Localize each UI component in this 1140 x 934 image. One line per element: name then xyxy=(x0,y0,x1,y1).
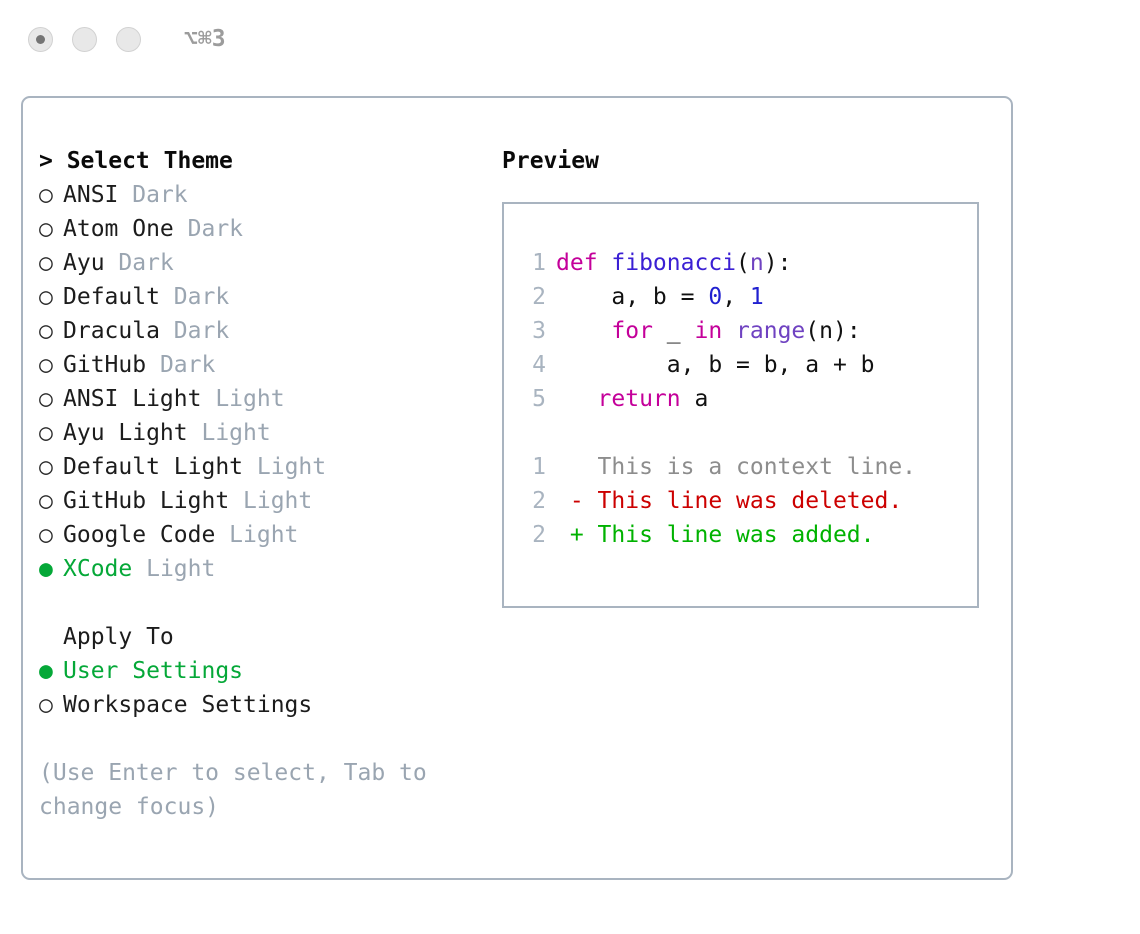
diff-line-add: 2 + This line was added. xyxy=(522,518,977,552)
preview-heading: Preview xyxy=(502,144,992,178)
code-token-plain: (n): xyxy=(805,318,860,344)
apply-to-option-label: User Settings xyxy=(63,658,243,684)
theme-option-ansi[interactable]: ○ANSI Dark xyxy=(39,178,469,212)
theme-option-ansi-light[interactable]: ○ANSI Light Light xyxy=(39,382,469,416)
theme-option-xcode[interactable]: ●XCode Light xyxy=(39,552,469,586)
theme-option-list: ○ANSI Dark○Atom One Dark○Ayu Dark○Defaul… xyxy=(39,178,469,586)
diff-line-del: 2 - This line was deleted. xyxy=(522,484,977,518)
code-sample: 1def fibonacci(n):2 a, b = 0, 13 for _ i… xyxy=(522,246,977,416)
code-line: 5 return a xyxy=(522,382,977,416)
window-titlebar: ⌥⌘3 xyxy=(0,0,1140,78)
code-token-kw: return xyxy=(598,386,681,412)
preview-column: Preview 1def fibonacci(n):2 a, b = 0, 13… xyxy=(502,144,992,608)
radio-unselected-icon: ○ xyxy=(39,450,63,484)
code-diff-spacer xyxy=(522,416,977,450)
code-token-num: 0 xyxy=(708,284,722,310)
theme-option-category: Light xyxy=(243,488,312,514)
radio-unselected-icon: ○ xyxy=(39,518,63,552)
keyboard-shortcut-label: ⌥⌘3 xyxy=(184,28,226,51)
select-theme-heading: > Select Theme xyxy=(39,144,469,178)
theme-option-google-code[interactable]: ○Google Code Light xyxy=(39,518,469,552)
code-line-content: return a xyxy=(556,386,708,412)
diff-line-number: 2 xyxy=(522,484,546,518)
code-token-fn: fibonacci xyxy=(611,250,736,276)
theme-option-github[interactable]: ○GitHub Dark xyxy=(39,348,469,382)
diff-line-number: 1 xyxy=(522,450,546,484)
apply-to-option-list: ●User Settings○Workspace Settings xyxy=(39,654,469,722)
code-line: 1def fibonacci(n): xyxy=(522,246,977,280)
theme-picker-panel: > Select Theme ○ANSI Dark○Atom One Dark○… xyxy=(21,96,1013,880)
code-token-plain: _ xyxy=(653,318,695,344)
theme-option-category: Light xyxy=(201,420,270,446)
theme-option-category: Dark xyxy=(160,352,215,378)
theme-option-label: Dracula xyxy=(63,318,174,344)
code-line-content: def fibonacci(n): xyxy=(556,250,791,276)
code-line-number: 2 xyxy=(522,280,546,314)
theme-option-category: Dark xyxy=(174,284,229,310)
code-line-content: a, b = 0, 1 xyxy=(556,284,764,310)
theme-option-default[interactable]: ○Default Dark xyxy=(39,280,469,314)
theme-option-category: Light xyxy=(215,386,284,412)
radio-unselected-icon: ○ xyxy=(39,416,63,450)
theme-option-label: XCode xyxy=(63,556,146,582)
radio-unselected-icon: ○ xyxy=(39,178,63,212)
theme-option-ayu[interactable]: ○Ayu Dark xyxy=(39,246,469,280)
apply-to-section: Apply To ●User Settings○Workspace Settin… xyxy=(39,620,469,722)
theme-option-label: Default xyxy=(63,284,174,310)
theme-option-label: GitHub Light xyxy=(63,488,243,514)
radio-unselected-icon: ○ xyxy=(39,382,63,416)
code-token-plain xyxy=(722,318,736,344)
code-token-param: n xyxy=(750,250,764,276)
diff-line-content: This is a context line. xyxy=(556,454,916,480)
theme-option-label: ANSI Light xyxy=(63,386,215,412)
apply-to-option-workspace-settings[interactable]: ○Workspace Settings xyxy=(39,688,469,722)
code-token-plain: a xyxy=(681,386,709,412)
code-line-number: 5 xyxy=(522,382,546,416)
diff-line-number: 2 xyxy=(522,518,546,552)
code-token-plain: a, b = xyxy=(556,284,708,310)
theme-option-category: Dark xyxy=(132,182,187,208)
window-controls xyxy=(28,27,141,52)
code-token-kw: in xyxy=(694,318,722,344)
code-line-content: for _ in range(n): xyxy=(556,318,861,344)
code-token-plain xyxy=(556,386,598,412)
code-line-number: 1 xyxy=(522,246,546,280)
radio-selected-icon: ● xyxy=(39,552,63,586)
theme-option-label: GitHub xyxy=(63,352,160,378)
theme-list-column: > Select Theme ○ANSI Dark○Atom One Dark○… xyxy=(39,144,469,824)
code-line-number: 3 xyxy=(522,314,546,348)
radio-selected-icon: ● xyxy=(39,654,63,688)
theme-option-atom-one[interactable]: ○Atom One Dark xyxy=(39,212,469,246)
window-dot-active[interactable] xyxy=(28,27,53,52)
theme-option-category: Dark xyxy=(174,318,229,344)
code-line: 4 a, b = b, a + b xyxy=(522,348,977,382)
theme-option-category: Dark xyxy=(118,250,173,276)
window-dot-third[interactable] xyxy=(116,27,141,52)
diff-line-content: + This line was added. xyxy=(556,522,875,548)
window-dot-active-indicator xyxy=(36,35,45,44)
theme-option-label: Ayu Light xyxy=(63,420,201,446)
diff-sample: 1 This is a context line.2 - This line w… xyxy=(522,450,977,552)
code-token-plain: ( xyxy=(736,250,750,276)
code-token-plain: , xyxy=(722,284,750,310)
code-token-kw: for xyxy=(611,318,653,344)
code-token-plain xyxy=(556,318,611,344)
theme-option-github-light[interactable]: ○GitHub Light Light xyxy=(39,484,469,518)
radio-unselected-icon: ○ xyxy=(39,280,63,314)
radio-unselected-icon: ○ xyxy=(39,246,63,280)
theme-option-category: Dark xyxy=(188,216,243,242)
code-line-content: a, b = b, a + b xyxy=(556,352,875,378)
radio-unselected-icon: ○ xyxy=(39,348,63,382)
apply-to-heading: Apply To xyxy=(39,620,469,654)
diff-line-ctx: 1 This is a context line. xyxy=(522,450,977,484)
theme-option-category: Light xyxy=(229,522,298,548)
code-token-builtin: range xyxy=(736,318,805,344)
radio-unselected-icon: ○ xyxy=(39,484,63,518)
radio-unselected-icon: ○ xyxy=(39,314,63,348)
theme-option-label: Default Light xyxy=(63,454,257,480)
code-line-number: 4 xyxy=(522,348,546,382)
theme-option-label: Google Code xyxy=(63,522,229,548)
theme-option-dracula[interactable]: ○Dracula Dark xyxy=(39,314,469,348)
code-token-num: 1 xyxy=(750,284,764,310)
theme-option-default-light[interactable]: ○Default Light Light xyxy=(39,450,469,484)
code-line: 2 a, b = 0, 1 xyxy=(522,280,977,314)
diff-line-content: - This line was deleted. xyxy=(556,488,902,514)
code-token-plain: a, b = b, a + b xyxy=(556,352,875,378)
theme-option-ayu-light[interactable]: ○Ayu Light Light xyxy=(39,416,469,450)
keyboard-hint-text: (Use Enter to select, Tab to change focu… xyxy=(39,756,443,824)
theme-option-category: Light xyxy=(146,556,215,582)
radio-unselected-icon: ○ xyxy=(39,688,63,722)
theme-option-category: Light xyxy=(257,454,326,480)
preview-code-box: 1def fibonacci(n):2 a, b = 0, 13 for _ i… xyxy=(502,202,979,608)
code-token-kw: def xyxy=(556,250,611,276)
code-line: 3 for _ in range(n): xyxy=(522,314,977,348)
code-token-plain: ): xyxy=(764,250,792,276)
theme-option-label: Ayu xyxy=(63,250,118,276)
apply-to-option-label: Workspace Settings xyxy=(63,692,312,718)
window-dot-second[interactable] xyxy=(72,27,97,52)
theme-option-label: ANSI xyxy=(63,182,132,208)
theme-option-label: Atom One xyxy=(63,216,188,242)
apply-to-option-user-settings[interactable]: ●User Settings xyxy=(39,654,469,688)
radio-unselected-icon: ○ xyxy=(39,212,63,246)
